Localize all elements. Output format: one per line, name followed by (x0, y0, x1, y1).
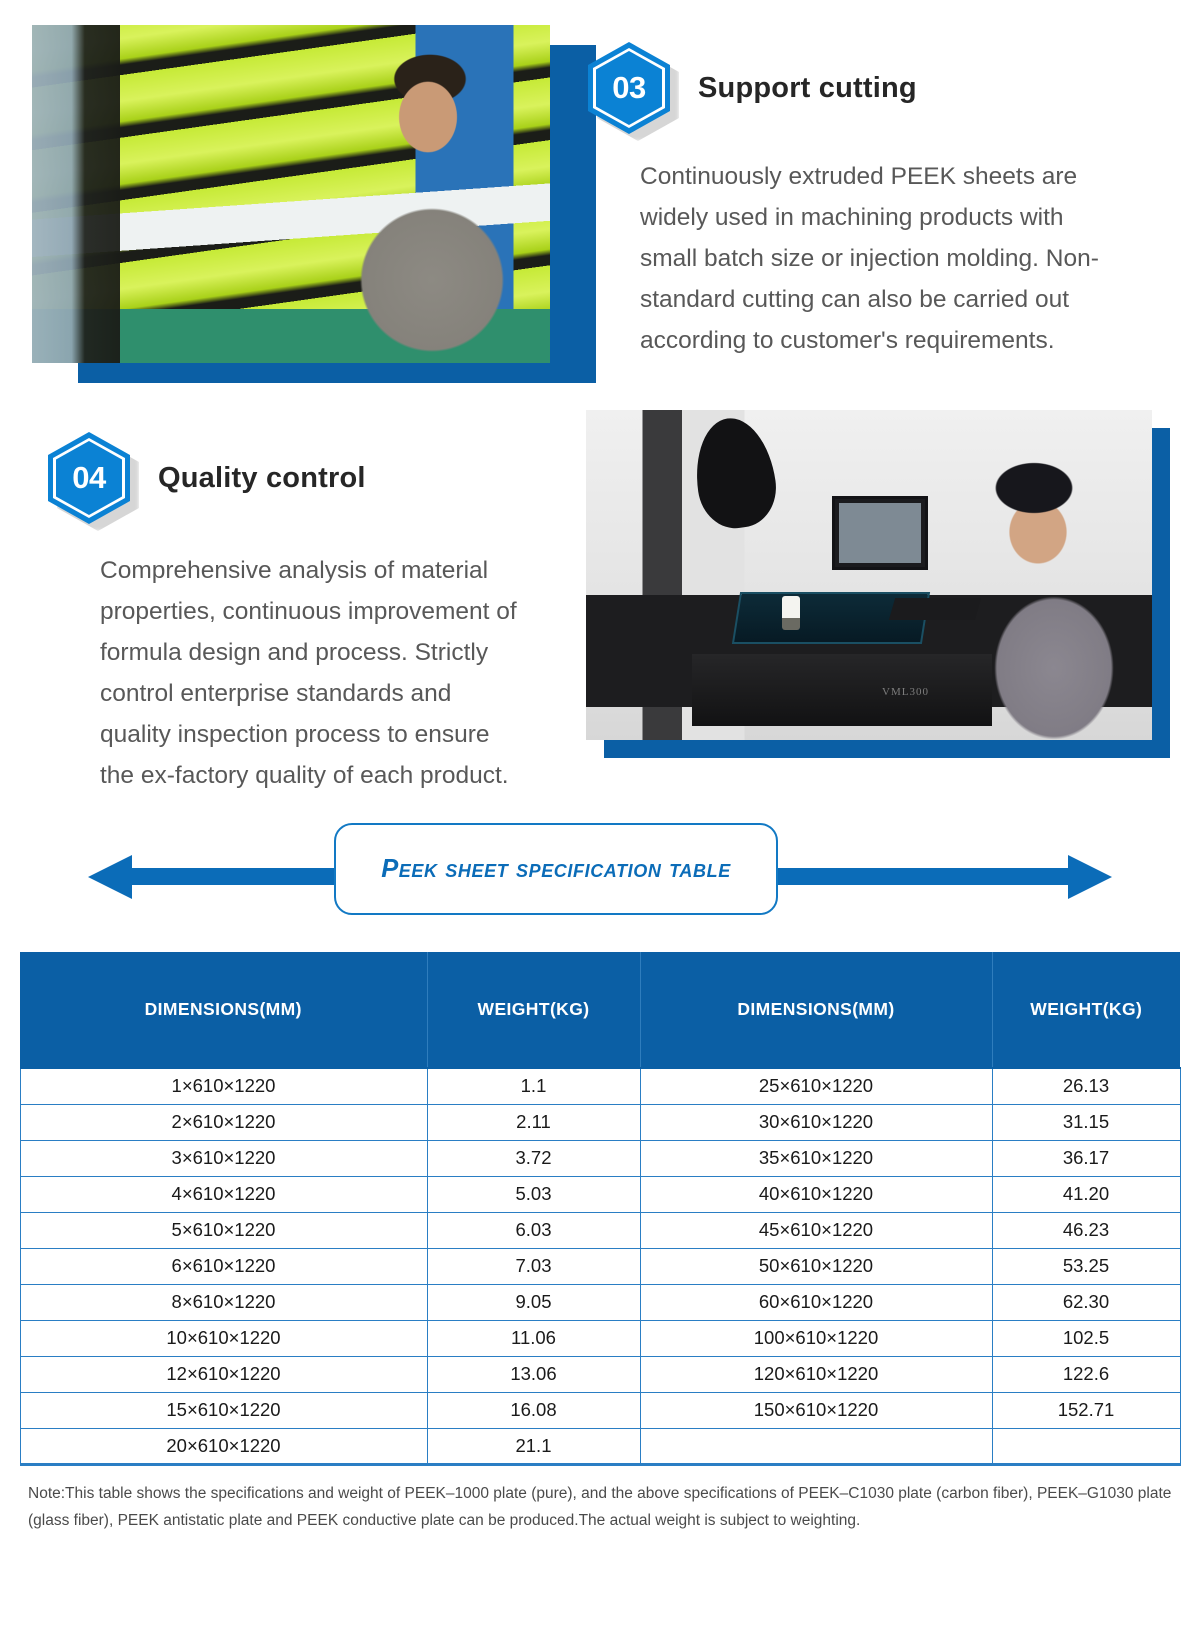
cell-dimensions: 2×610×1220 (20, 1104, 427, 1140)
machine-model-label: VML300 (882, 686, 929, 698)
cell-weight: 3.72 (427, 1140, 640, 1176)
support-cutting-photo-frame (32, 25, 550, 363)
support-cutting-photo (32, 25, 550, 363)
keyboard (889, 598, 981, 620)
cell-weight: 41.20 (992, 1176, 1180, 1212)
cell-weight: 1.1 (427, 1068, 640, 1104)
measuring-machine-photo-image: VML300 (586, 410, 1152, 740)
cell-dimensions: 4×610×1220 (20, 1176, 427, 1212)
table-row: 4×610×12205.0340×610×122041.20 (20, 1176, 1180, 1212)
quality-control-text-block: 04 Quality control Comprehensive analysi… (48, 432, 568, 796)
section-number-badge-03: 03 (588, 42, 670, 134)
cell-dimensions: 3×610×1220 (20, 1140, 427, 1176)
spec-table-wrap: DIMENSIONS(MM) WEIGHT(KG) DIMENSIONS(MM)… (0, 952, 1200, 1466)
support-cutting-text-block: 03 Support cutting Continuously extruded… (588, 42, 1172, 361)
arrow-left-icon (88, 855, 132, 899)
table-row: 1×610×12201.125×610×122026.13 (20, 1068, 1180, 1104)
cell-weight: 152.71 (992, 1392, 1180, 1428)
cell-dimensions: 6×610×1220 (20, 1248, 427, 1284)
column-header-dimensions-1: DIMENSIONS(MM) (20, 952, 427, 1068)
cell-dimensions (640, 1428, 992, 1464)
section-quality-control: 04 Quality control Comprehensive analysi… (0, 400, 1200, 800)
cell-dimensions: 40×610×1220 (640, 1176, 992, 1212)
cell-dimensions: 25×610×1220 (640, 1068, 992, 1104)
cell-dimensions: 100×610×1220 (640, 1320, 992, 1356)
peek-spec-table: DIMENSIONS(MM) WEIGHT(KG) DIMENSIONS(MM)… (20, 952, 1181, 1466)
cell-dimensions: 1×610×1220 (20, 1068, 427, 1104)
cell-weight: 9.05 (427, 1284, 640, 1320)
column-header-dimensions-2: DIMENSIONS(MM) (640, 952, 992, 1068)
banner-title-text: Peek sheet specification table (381, 855, 731, 884)
cell-dimensions: 35×610×1220 (640, 1140, 992, 1176)
table-row: 6×610×12207.0350×610×122053.25 (20, 1248, 1180, 1284)
section-03-body: Continuously extruded PEEK sheets are wi… (588, 156, 1120, 361)
cell-weight: 7.03 (427, 1248, 640, 1284)
cell-dimensions: 45×610×1220 (640, 1212, 992, 1248)
table-row: 8×610×12209.0560×610×122062.30 (20, 1284, 1180, 1320)
monitor-screen (832, 496, 928, 570)
table-row: 15×610×122016.08150×610×1220152.71 (20, 1392, 1180, 1428)
section-04-title: Quality control (158, 462, 366, 495)
column-header-weight-2: WEIGHT(KG) (992, 952, 1180, 1068)
cell-weight: 122.6 (992, 1356, 1180, 1392)
cell-weight: 5.03 (427, 1176, 640, 1212)
cell-dimensions: 60×610×1220 (640, 1284, 992, 1320)
arrow-right-icon (1068, 855, 1112, 899)
table-header-row: DIMENSIONS(MM) WEIGHT(KG) DIMENSIONS(MM)… (20, 952, 1180, 1068)
cell-weight: 46.23 (992, 1212, 1180, 1248)
table-note: Note:This table shows the specifications… (12, 1480, 1188, 1534)
cell-weight: 13.06 (427, 1356, 640, 1392)
cell-weight: 11.06 (427, 1320, 640, 1356)
section-support-cutting: 03 Support cutting Continuously extruded… (0, 0, 1200, 400)
cell-weight: 36.17 (992, 1140, 1180, 1176)
banner-title-box: Peek sheet specification table (334, 823, 778, 915)
cell-weight: 16.08 (427, 1392, 640, 1428)
table-row: 2×610×12202.1130×610×122031.15 (20, 1104, 1180, 1140)
cell-dimensions: 8×610×1220 (20, 1284, 427, 1320)
cell-dimensions: 20×610×1220 (20, 1428, 427, 1464)
section-03-header: 03 Support cutting (588, 42, 1172, 134)
section-03-title: Support cutting (698, 72, 917, 105)
table-row: 10×610×122011.06100×610×1220102.5 (20, 1320, 1180, 1356)
cell-weight: 31.15 (992, 1104, 1180, 1140)
cell-weight (992, 1428, 1180, 1464)
quality-control-photo-frame: VML300 (586, 410, 1152, 740)
section-number-badge-04: 04 (48, 432, 130, 524)
machine-base (692, 654, 992, 726)
cell-dimensions: 15×610×1220 (20, 1392, 427, 1428)
cell-dimensions: 5×610×1220 (20, 1212, 427, 1248)
cell-weight: 21.1 (427, 1428, 640, 1464)
quality-control-photo: VML300 (586, 410, 1152, 740)
table-row: 3×610×12203.7235×610×122036.17 (20, 1140, 1180, 1176)
table-row: 20×610×122021.1 (20, 1428, 1180, 1464)
peek-billets-photo-image (32, 25, 550, 363)
cell-dimensions: 50×610×1220 (640, 1248, 992, 1284)
cell-weight: 26.13 (992, 1068, 1180, 1104)
cell-weight: 6.03 (427, 1212, 640, 1248)
cell-weight: 53.25 (992, 1248, 1180, 1284)
column-header-weight-1: WEIGHT(KG) (427, 952, 640, 1068)
spec-table-banner: Peek sheet specification table (0, 818, 1200, 936)
cell-weight: 62.30 (992, 1284, 1180, 1320)
projector-lens (689, 413, 782, 533)
cell-dimensions: 120×610×1220 (640, 1356, 992, 1392)
section-04-header: 04 Quality control (48, 432, 568, 524)
cell-dimensions: 150×610×1220 (640, 1392, 992, 1428)
table-row: 12×610×122013.06120×610×1220122.6 (20, 1356, 1180, 1392)
cell-weight: 102.5 (992, 1320, 1180, 1356)
cell-dimensions: 30×610×1220 (640, 1104, 992, 1140)
sample-vial (782, 596, 800, 630)
cell-dimensions: 12×610×1220 (20, 1356, 427, 1392)
table-row: 5×610×12206.0345×610×122046.23 (20, 1212, 1180, 1248)
section-04-body: Comprehensive analysis of material prope… (48, 550, 528, 796)
cell-weight: 2.11 (427, 1104, 640, 1140)
cell-dimensions: 10×610×1220 (20, 1320, 427, 1356)
table-body: 1×610×12201.125×610×122026.132×610×12202… (20, 1068, 1180, 1464)
